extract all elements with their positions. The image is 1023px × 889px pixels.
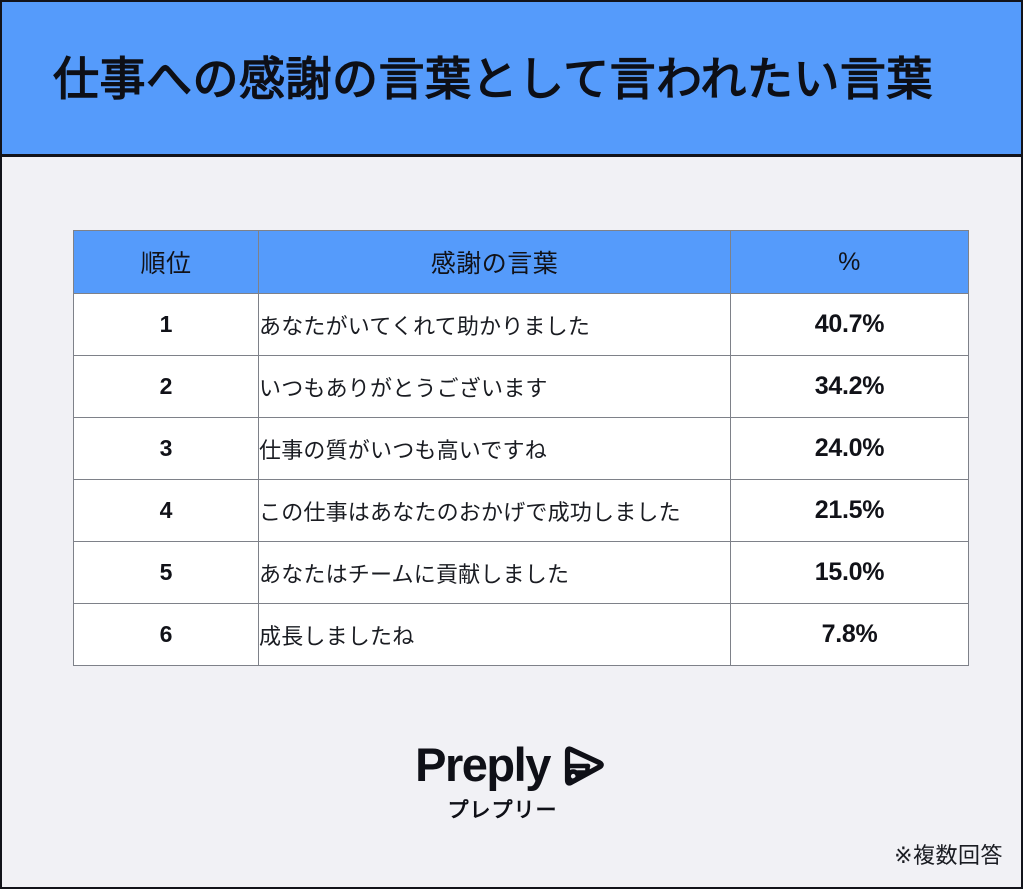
table-row: 3 仕事の質がいつも高いですね 24.0%	[74, 418, 969, 480]
cell-word: あなたがいてくれて助かりました	[259, 294, 731, 356]
logo-wordmark: Preply	[415, 741, 550, 788]
ranking-table: 順位 感謝の言葉 % 1 あなたがいてくれて助かりました 40.7% 2 いつも…	[73, 230, 969, 666]
table-row: 4 この仕事はあなたのおかげで成功しました 21.5%	[74, 480, 969, 542]
table-row: 5 あなたはチームに貢献しました 15.0%	[74, 542, 969, 604]
infographic-canvas: 仕事への感謝の言葉として言われたい言葉 順位 感謝の言葉 % 1 あなたがいてく…	[0, 0, 1023, 889]
table-row: 1 あなたがいてくれて助かりました 40.7%	[74, 294, 969, 356]
cell-percent: 15.0%	[731, 542, 969, 604]
cell-rank: 6	[74, 604, 259, 666]
cell-word: 仕事の質がいつも高いですね	[259, 418, 731, 480]
brand-logo: Preply プレプリー	[2, 737, 1021, 824]
table-row: 6 成長しましたね 7.8%	[74, 604, 969, 666]
cell-word: 成長しましたね	[259, 604, 731, 666]
cell-percent: 21.5%	[731, 480, 969, 542]
footnote-multiple-answers: ※複数回答	[894, 838, 1003, 870]
cell-word: いつもありがとうございます	[259, 356, 731, 418]
cell-rank: 3	[74, 418, 259, 480]
cell-percent: 24.0%	[731, 418, 969, 480]
cell-word: あなたはチームに貢献しました	[259, 542, 731, 604]
cell-rank: 2	[74, 356, 259, 418]
column-header-rank: 順位	[74, 231, 259, 294]
logo-subtitle: プレプリー	[448, 794, 558, 824]
column-header-percent: %	[731, 231, 969, 294]
ranking-table-wrapper: 順位 感謝の言葉 % 1 あなたがいてくれて助かりました 40.7% 2 いつも…	[73, 230, 968, 666]
title-banner: 仕事への感謝の言葉として言われたい言葉	[0, 0, 1023, 157]
cell-rank: 5	[74, 542, 259, 604]
cell-rank: 1	[74, 294, 259, 356]
table-body: 1 あなたがいてくれて助かりました 40.7% 2 いつもありがとうございます …	[74, 294, 969, 666]
table-row: 2 いつもありがとうございます 34.2%	[74, 356, 969, 418]
page-title: 仕事への感謝の言葉として言われたい言葉	[53, 54, 933, 105]
cell-percent: 40.7%	[731, 294, 969, 356]
preply-megaphone-icon	[558, 741, 608, 791]
cell-rank: 4	[74, 480, 259, 542]
column-header-word: 感謝の言葉	[259, 231, 731, 294]
logo-row: Preply	[415, 737, 608, 791]
cell-percent: 34.2%	[731, 356, 969, 418]
cell-percent: 7.8%	[731, 604, 969, 666]
cell-word: この仕事はあなたのおかげで成功しました	[259, 480, 731, 542]
table-header: 順位 感謝の言葉 %	[74, 231, 969, 294]
table-header-row: 順位 感謝の言葉 %	[74, 231, 969, 294]
